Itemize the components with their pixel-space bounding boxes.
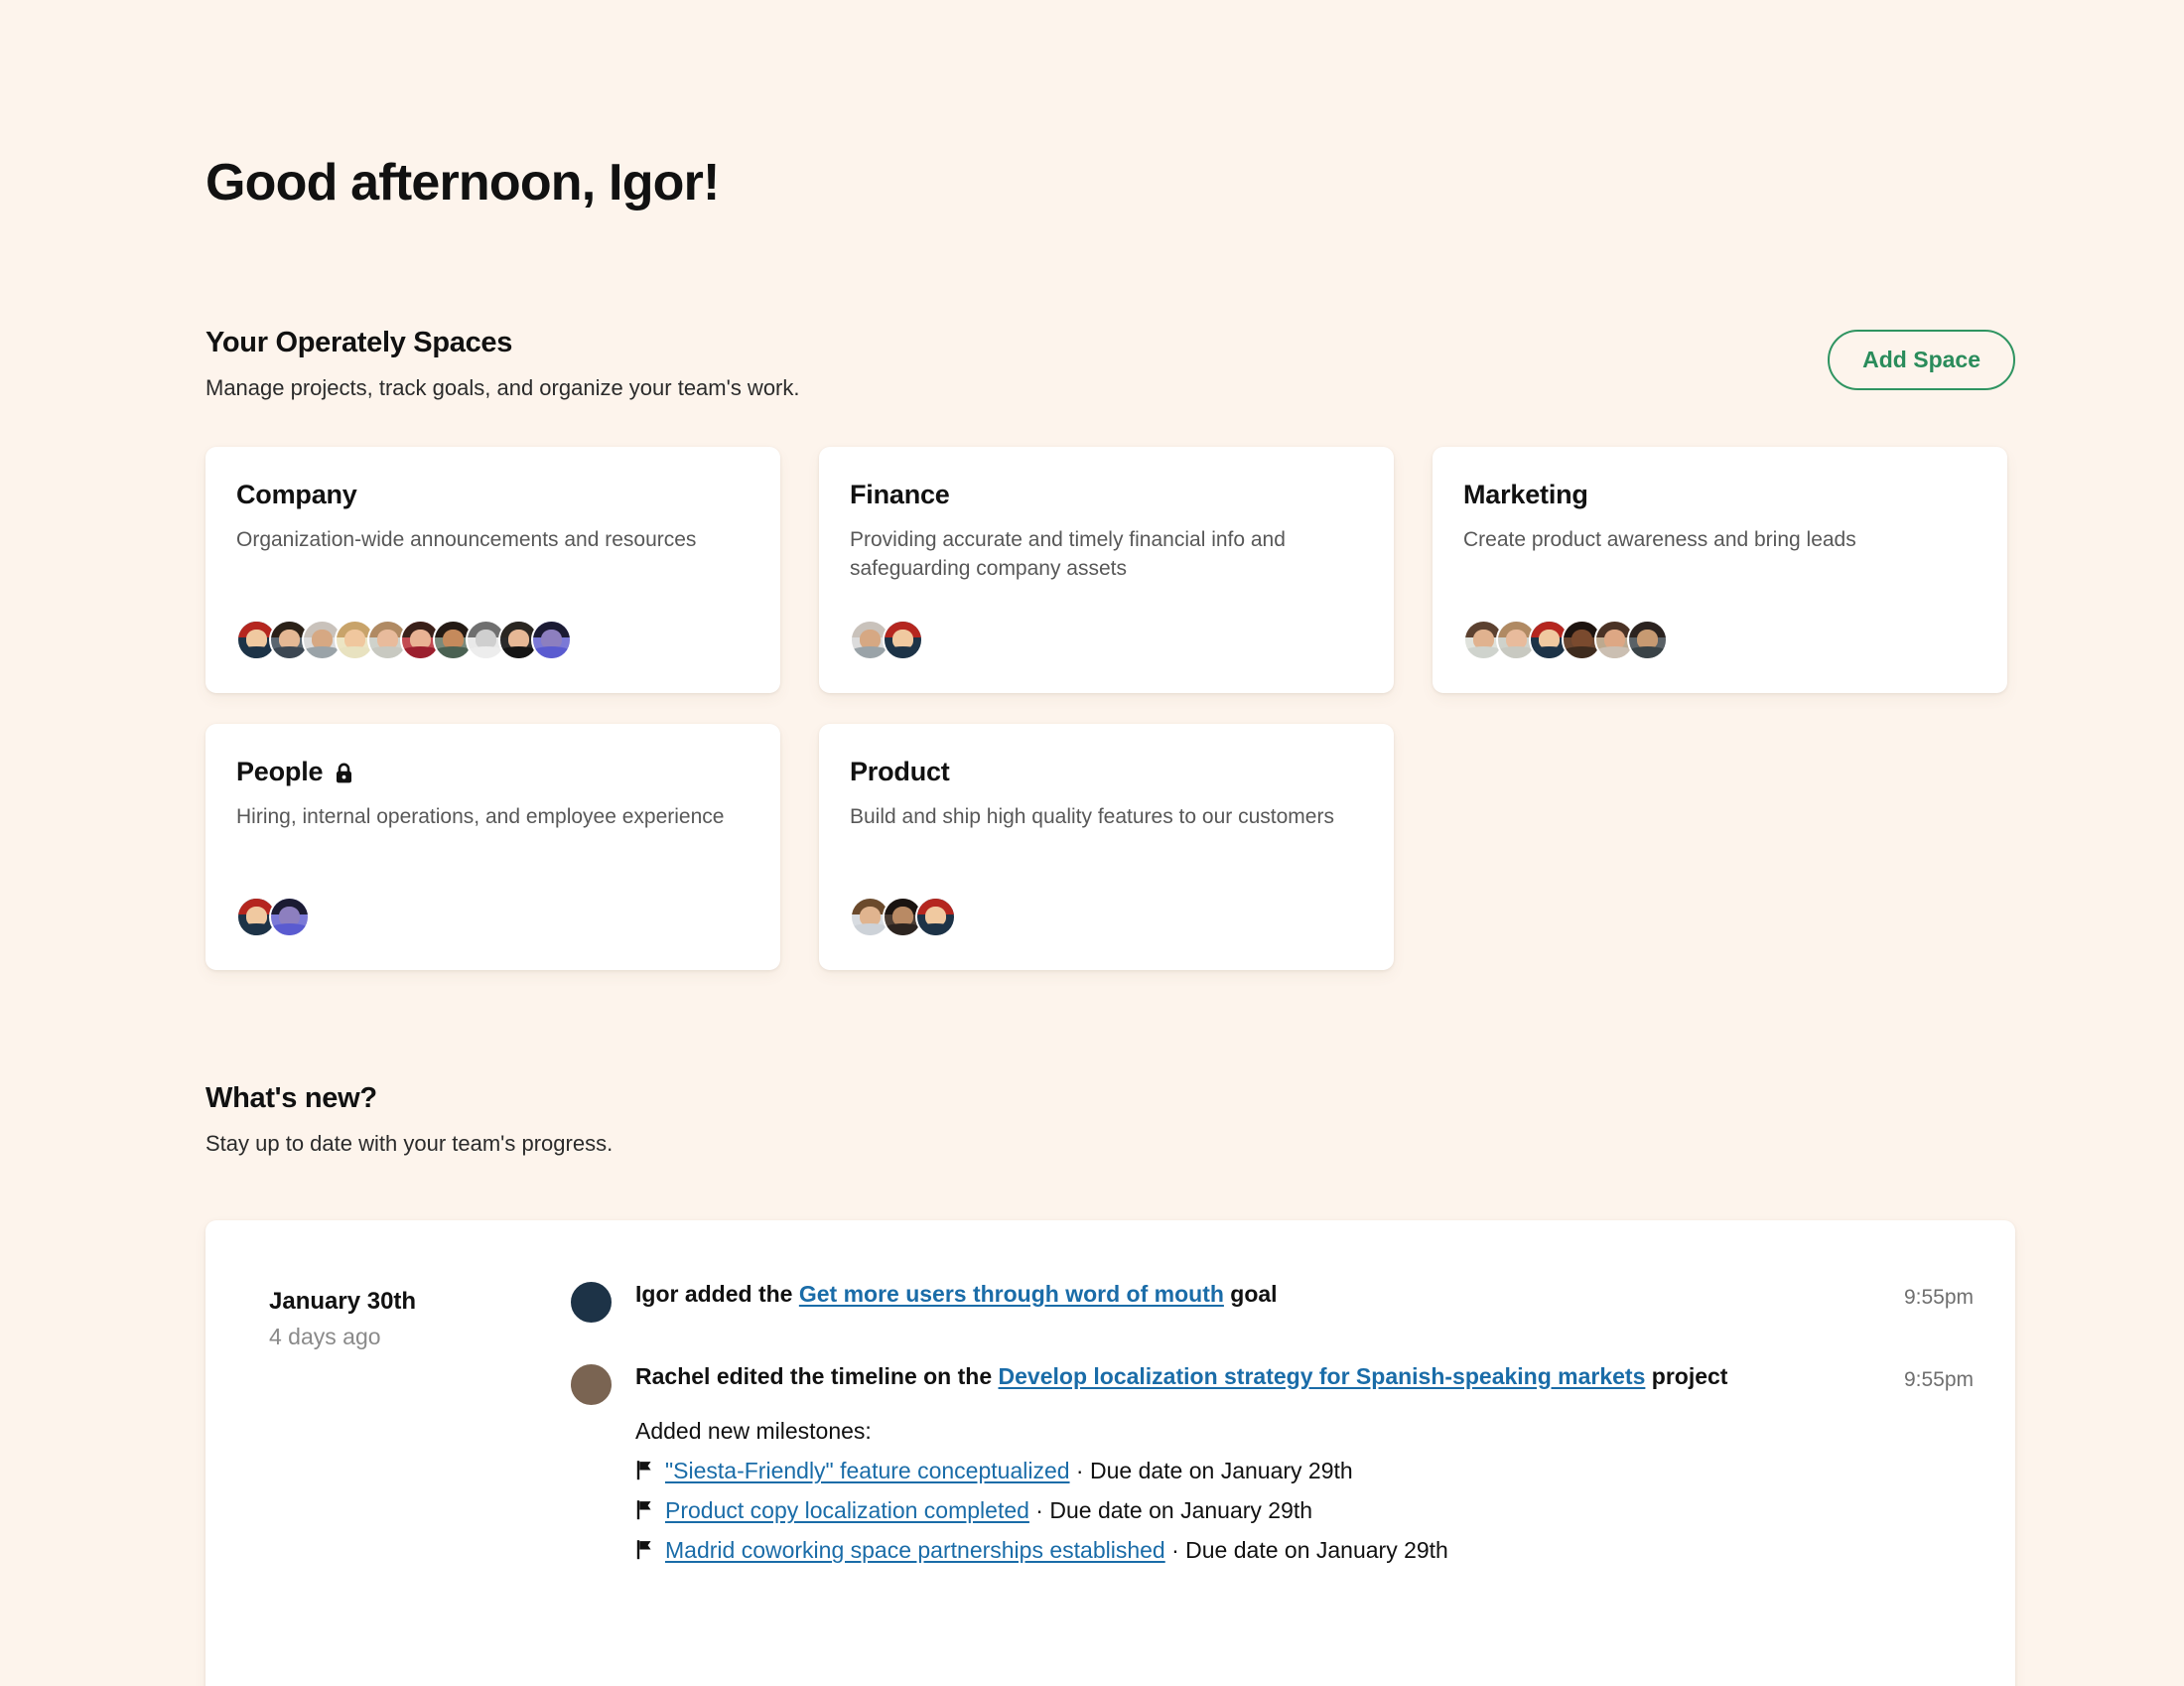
activity-summary: Igor added the Get more users through wo…	[635, 1278, 1852, 1311]
spaces-section-subtitle: Manage projects, track goals, and organi…	[205, 374, 800, 403]
space-card-title: Company	[236, 480, 750, 510]
space-card-title: Finance	[850, 480, 1363, 510]
feed-relative-date: 4 days ago	[269, 1324, 569, 1351]
space-card-description: Build and ship high quality features to …	[850, 803, 1356, 832]
avatar[interactable]	[569, 1280, 614, 1325]
space-card-finance[interactable]: FinanceProviding accurate and timely fin…	[819, 447, 1394, 693]
space-card-name: Finance	[850, 480, 950, 510]
space-card-name: People	[236, 757, 323, 787]
spaces-heading-group: Your Operately Spaces Manage projects, t…	[205, 326, 800, 402]
feed-activity-list: Igor added the Get more users through wo…	[569, 1278, 1974, 1604]
lock-icon	[335, 763, 353, 784]
activity-summary: Rachel edited the timeline on the Develo…	[635, 1360, 1852, 1393]
space-card-member-avatars	[236, 620, 572, 660]
feed-date-column: January 30th4 days ago	[269, 1278, 569, 1604]
add-space-button[interactable]: Add Space	[1828, 330, 2015, 390]
milestone-item: Product copy localization completed · Du…	[635, 1493, 1852, 1527]
space-card-product[interactable]: ProductBuild and ship high quality featu…	[819, 724, 1394, 970]
space-card-title: Product	[850, 757, 1363, 787]
whatsnew-heading-group: What's new? Stay up to date with your te…	[205, 1081, 613, 1158]
spaces-section-header: Your Operately Spaces Manage projects, t…	[205, 326, 2015, 402]
activity-target-link[interactable]: Get more users through word of mouth	[799, 1281, 1224, 1307]
activity-timestamp: 9:55pm	[1904, 1360, 1974, 1392]
space-card-title: Marketing	[1463, 480, 1977, 510]
spaces-card-grid: CompanyOrganization-wide announcements a…	[205, 447, 2015, 970]
activity-text-before: Rachel edited the timeline on the	[635, 1363, 999, 1389]
avatar[interactable]	[269, 897, 310, 937]
activity-body: Rachel edited the timeline on the Develo…	[635, 1360, 1852, 1568]
lock-icon	[335, 763, 353, 784]
activity-body: Igor added the Get more users through wo…	[635, 1278, 1852, 1311]
avatar[interactable]	[915, 897, 956, 937]
page-title: Good afternoon, Igor!	[205, 0, 2015, 213]
whatsnew-section-subtitle: Stay up to date with your team's progres…	[205, 1130, 613, 1159]
content-column: Good afternoon, Igor! Your Operately Spa…	[205, 0, 2015, 1686]
activity-detail-label: Added new milestones:	[635, 1414, 1852, 1448]
space-card-member-avatars	[236, 897, 310, 937]
space-card-people[interactable]: PeopleHiring, internal operations, and e…	[205, 724, 780, 970]
space-card-description: Hiring, internal operations, and employe…	[236, 803, 743, 832]
activity-item: Igor added the Get more users through wo…	[569, 1278, 1974, 1325]
avatar[interactable]	[569, 1362, 614, 1407]
milestone-link[interactable]: Product copy localization completed	[665, 1497, 1029, 1523]
whatsnew-section-title: What's new?	[205, 1081, 613, 1116]
activity-text-after: project	[1645, 1363, 1727, 1389]
space-card-name: Company	[236, 480, 357, 510]
flag-icon	[635, 1460, 655, 1480]
space-card-member-avatars	[1463, 620, 1668, 660]
spaces-section-title: Your Operately Spaces	[205, 326, 800, 360]
space-card-company[interactable]: CompanyOrganization-wide announcements a…	[205, 447, 780, 693]
milestone-due-date: · Due date on January 29th	[1029, 1497, 1312, 1523]
milestone-item: "Siesta-Friendly" feature conceptualized…	[635, 1454, 1852, 1487]
space-card-name: Marketing	[1463, 480, 1588, 510]
milestone-link[interactable]: Madrid coworking space partnerships esta…	[665, 1537, 1165, 1563]
whatsnew-section-header: What's new? Stay up to date with your te…	[205, 1081, 2015, 1158]
space-card-marketing[interactable]: MarketingCreate product awareness and br…	[1433, 447, 2007, 693]
space-card-name: Product	[850, 757, 950, 787]
activity-text-after: goal	[1224, 1281, 1278, 1307]
activity-target-link[interactable]: Develop localization strategy for Spanis…	[999, 1363, 1646, 1389]
flag-icon	[635, 1499, 655, 1520]
space-card-description: Organization-wide announcements and reso…	[236, 526, 743, 555]
page-root: Good afternoon, Igor! Your Operately Spa…	[0, 0, 2184, 1686]
milestone-due-date: · Due date on January 29th	[1165, 1537, 1448, 1563]
space-card-member-avatars	[850, 897, 956, 937]
avatar[interactable]	[1627, 620, 1668, 660]
feed-day-group: January 30th4 days agoIgor added the Get…	[205, 1278, 2015, 1604]
milestone-link[interactable]: "Siesta-Friendly" feature conceptualized	[665, 1458, 1070, 1483]
activity-item: Rachel edited the timeline on the Develo…	[569, 1360, 1974, 1568]
avatar[interactable]	[883, 620, 923, 660]
milestone-due-date: · Due date on January 29th	[1070, 1458, 1353, 1483]
activity-feed-card: January 30th4 days agoIgor added the Get…	[205, 1220, 2015, 1686]
flag-icon	[635, 1539, 655, 1560]
milestone-item: Madrid coworking space partnerships esta…	[635, 1533, 1852, 1567]
space-card-description: Create product awareness and bring leads	[1463, 526, 1970, 555]
activity-timestamp: 9:55pm	[1904, 1278, 1974, 1310]
feed-date: January 30th	[269, 1288, 569, 1317]
avatar[interactable]	[531, 620, 572, 660]
space-card-member-avatars	[850, 620, 923, 660]
space-card-description: Providing accurate and timely financial …	[850, 526, 1356, 584]
activity-text-before: Igor added the	[635, 1281, 799, 1307]
space-card-title: People	[236, 757, 750, 787]
